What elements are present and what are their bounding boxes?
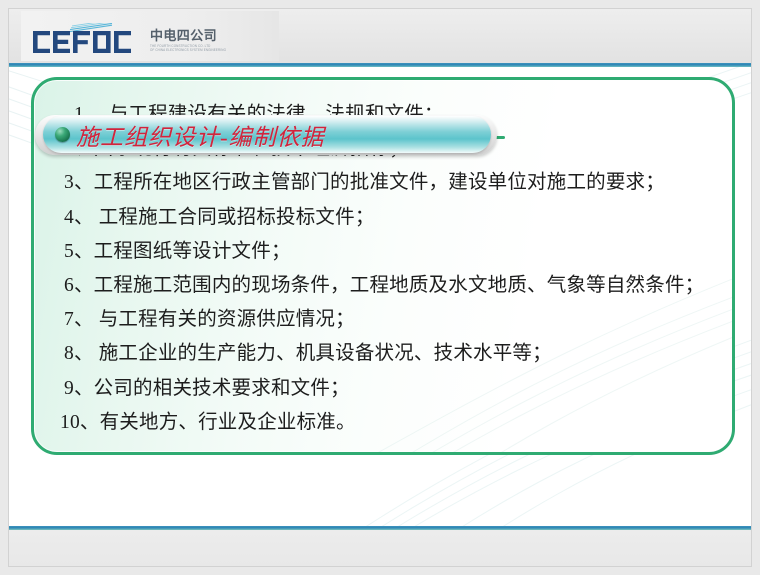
list-item: 8、 施工企业的生产能力、机具设备状况、技术水平等； <box>48 337 726 371</box>
logo-letters-icon <box>33 31 141 53</box>
company-name-block: 中电四公司 THE FOURTH CONSTRUCTION CO. LTD OF… <box>150 30 226 53</box>
list-item: 3、工程所在地区行政主管部门的批准文件，建设单位对施工的要求； <box>48 166 726 200</box>
cefoc-wordmark-icon <box>33 23 141 53</box>
slide-header: 中电四公司 THE FOURTH CONSTRUCTION CO. LTD OF… <box>9 9 751 64</box>
company-name-cn: 中电四公司 <box>150 30 226 44</box>
list-item: 4、 工程施工合同或招标投标文件； <box>48 201 726 235</box>
slide-canvas: 中电四公司 THE FOURTH CONSTRUCTION CO. LTD OF… <box>0 0 760 575</box>
company-name-en-line2: OF CHINA ELECTRONICS SYSTEM ENGINEERING <box>150 48 226 52</box>
slide-page: 中电四公司 THE FOURTH CONSTRUCTION CO. LTD OF… <box>8 8 752 567</box>
company-logo: 中电四公司 THE FOURTH CONSTRUCTION CO. LTD OF… <box>33 23 226 53</box>
list-item: 5、工程图纸等设计文件； <box>48 235 726 269</box>
list-item: 10、有关地方、行业及企业标准。 <box>48 406 726 440</box>
page-title: 施工组织设计-编制依据 <box>76 118 325 152</box>
list-item: 6、工程施工范围内的现场条件，工程地质及水文地质、气象等自然条件； <box>48 269 726 303</box>
slide-footer <box>9 530 751 567</box>
list-item: 9、公司的相关技术要求和文件； <box>48 372 726 406</box>
list-item: 7、 与工程有关的资源供应情况； <box>48 303 726 337</box>
slide-title-banner: 施工组织设计-编制依据 <box>43 116 491 153</box>
green-sphere-bullet-icon <box>55 127 70 142</box>
